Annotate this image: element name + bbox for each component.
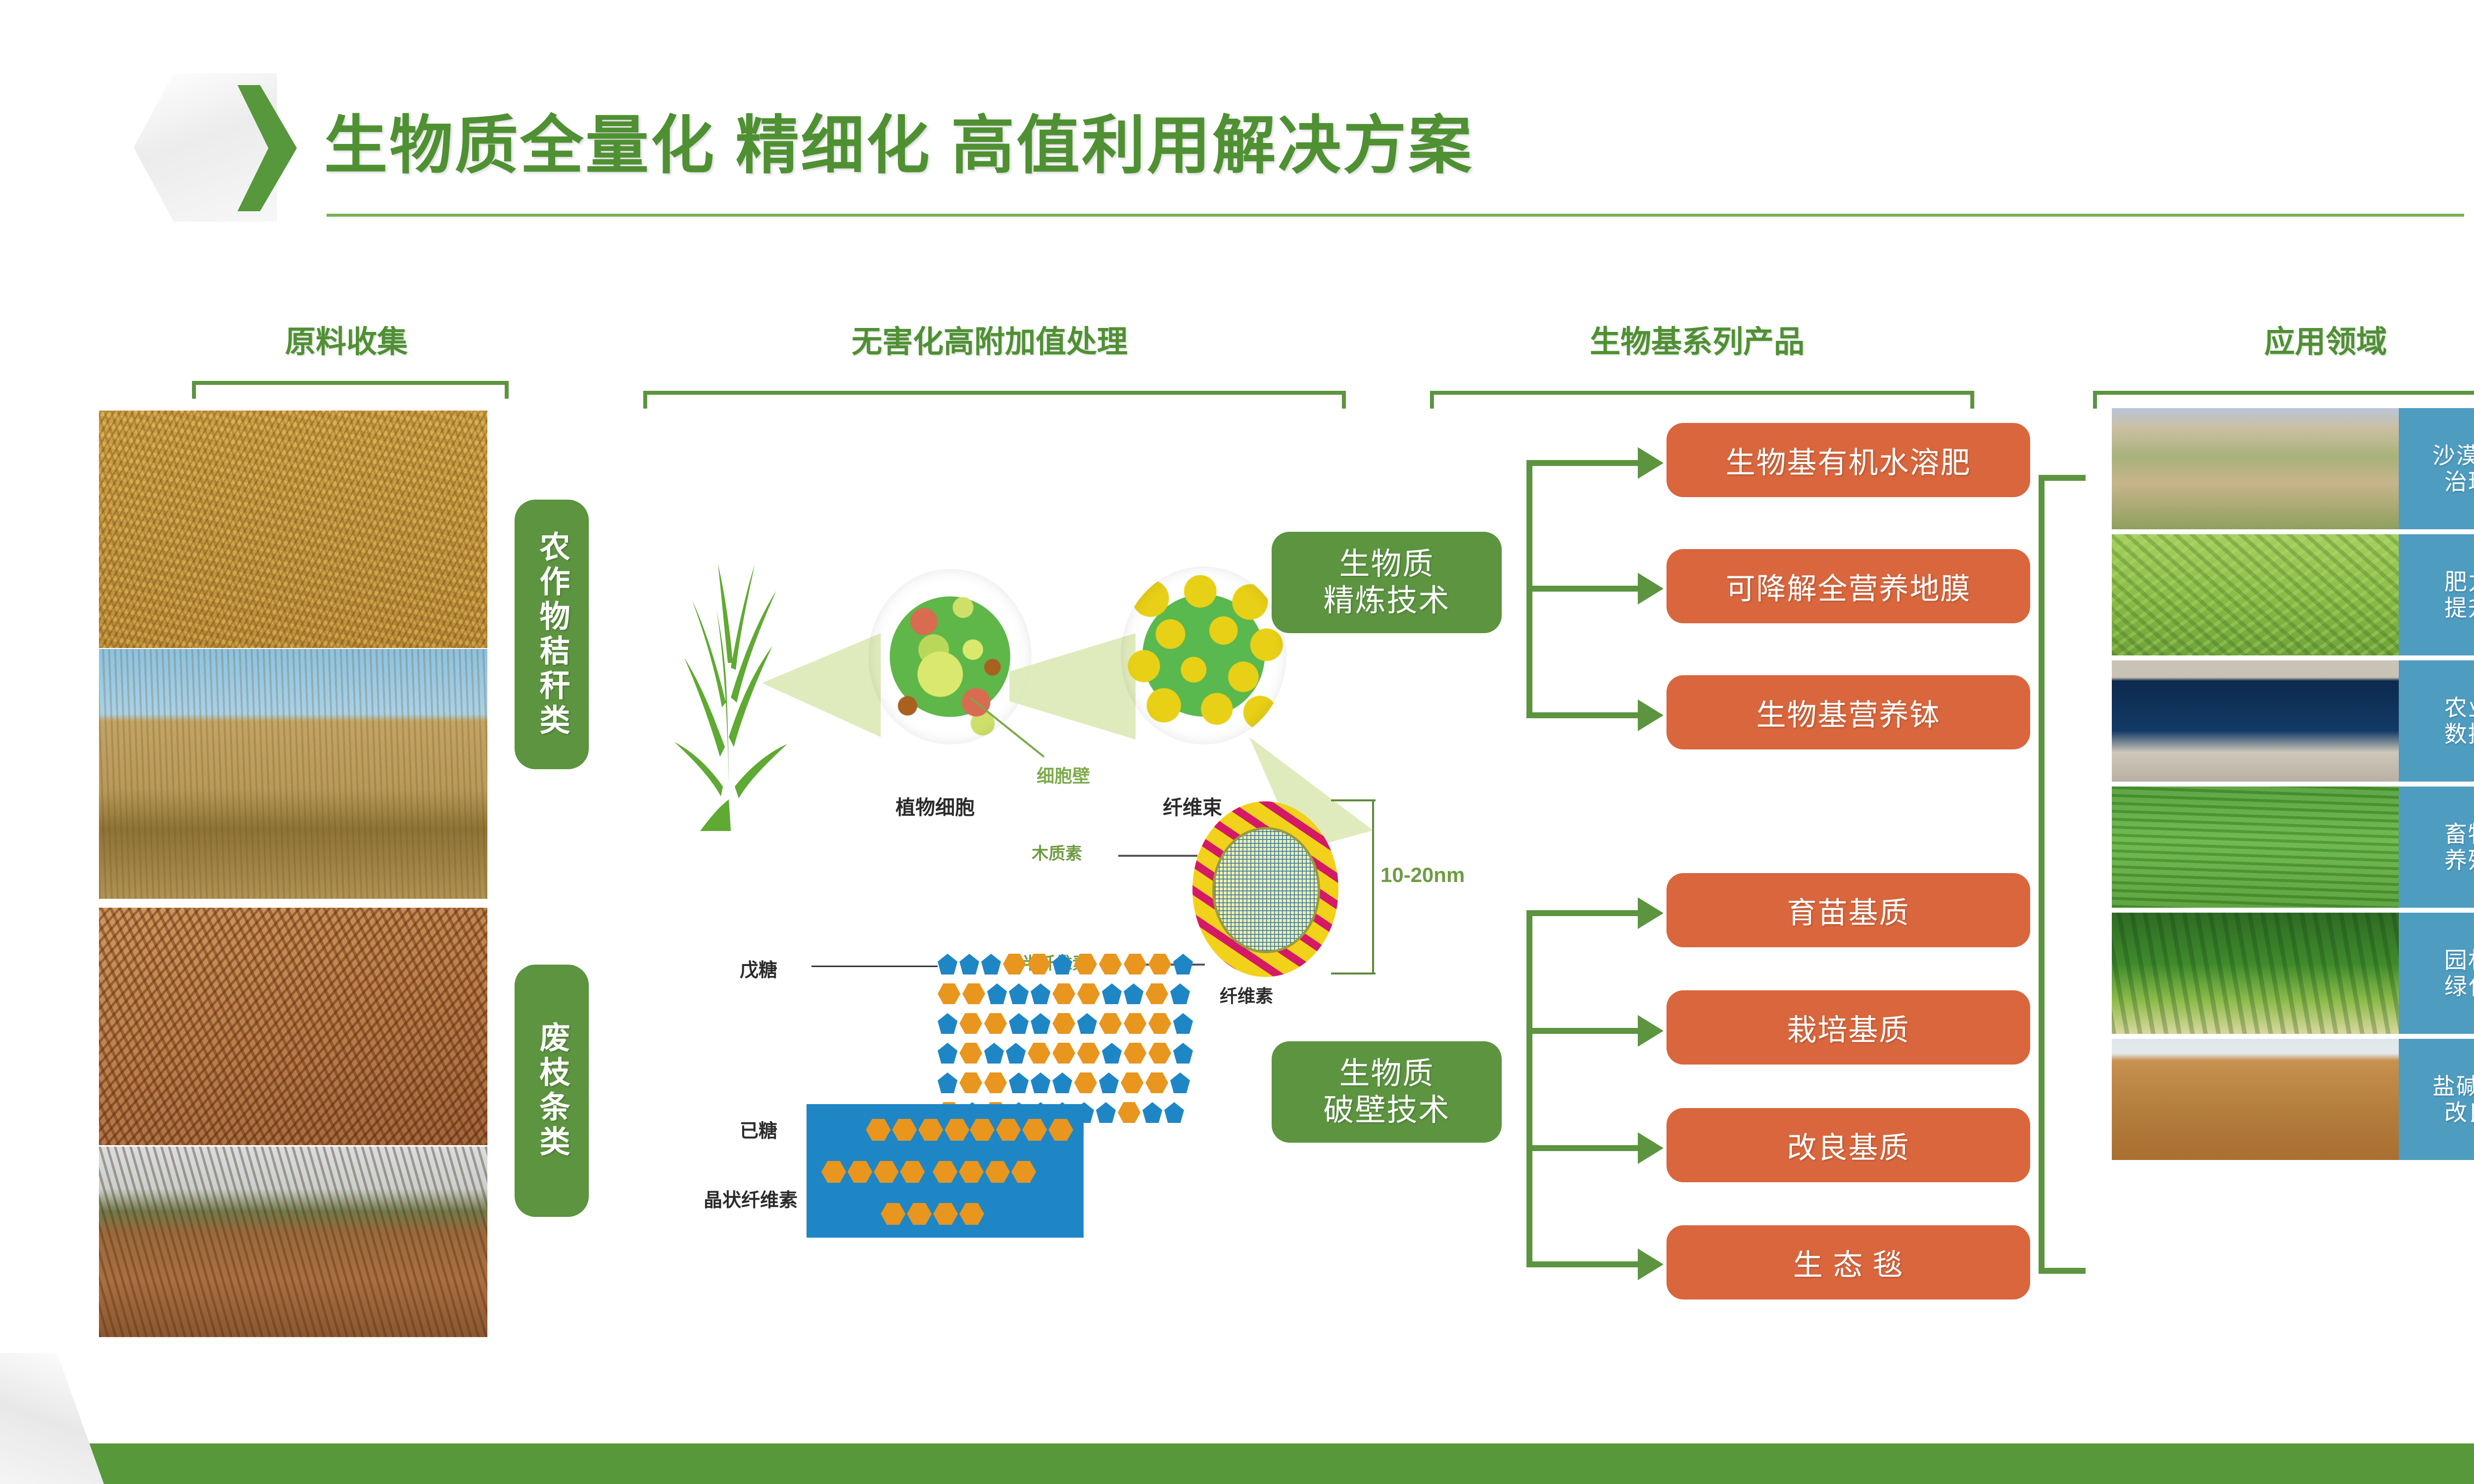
pentose-unit-icon (938, 1043, 957, 1064)
hexose-unit-icon (1074, 1072, 1097, 1093)
material-tag-crop-straw: 农作物秸秆类 (515, 500, 589, 769)
arrow-head-wb-1 (1638, 897, 1664, 929)
app-label-desertification-line1: 沙漠化 (2432, 443, 2474, 469)
hexose-unit-icon (1099, 954, 1122, 974)
slide-canvas: 生物质全量化 精细化 高值利用解决方案 原料收集 无害化高附加值处理 生物基系列… (0, 0, 2474, 1484)
arrow-shaft-refining-3 (1601, 712, 1638, 718)
pentose-unit-icon (1052, 954, 1072, 974)
pentose-unit-icon (1164, 1102, 1184, 1123)
app-label-soil-fertility[interactable]: 肥力 提升 (2399, 534, 2474, 655)
hexose-unit-icon (984, 1013, 1007, 1034)
tech-box-wall-breaking[interactable]: 生物质 破壁技术 (1272, 1041, 1502, 1143)
glucose-unit-icon (874, 1161, 899, 1183)
applications-bracket (2039, 475, 2086, 1274)
title-underline (327, 214, 2464, 217)
pentose-unit-icon (1009, 983, 1029, 1004)
app-image-agri-data (2112, 660, 2399, 782)
app-label-desertification-line2: 治理 (2444, 469, 2474, 495)
hexose-unit-icon (1052, 1013, 1075, 1034)
sugar-chain-row (938, 954, 1193, 974)
sugar-chain-row (938, 983, 1190, 1004)
glucose-unit-icon (945, 1119, 969, 1141)
arrow-head-wb-2 (1638, 1015, 1664, 1047)
hexose-unit-icon (962, 983, 985, 1004)
pentose-leader-line (811, 966, 938, 967)
app-label-livestock[interactable]: 畜牧 养殖 (2399, 787, 2474, 908)
hexose-unit-icon (1145, 1072, 1168, 1093)
pentose-unit-icon (1142, 1102, 1162, 1123)
pentose-unit-icon (1170, 983, 1190, 1004)
glucose-unit-icon (970, 1119, 995, 1141)
glucose-unit-icon (933, 1203, 958, 1225)
label-cellulose: 纤维素 (1220, 982, 1273, 1008)
connector-branch-wb-1 (1526, 910, 1601, 916)
glucose-unit-icon (866, 1119, 891, 1141)
hexose-unit-icon (1077, 1043, 1100, 1064)
hexose-unit-icon (1124, 954, 1146, 974)
hexose-unit-icon (1074, 954, 1097, 974)
arrow-shaft-wb-2 (1601, 1028, 1638, 1034)
label-fibril-dimension: 10-20nm (1380, 863, 1465, 887)
app-image-saline-land (2112, 1039, 2399, 1160)
app-label-livestock-line1: 畜牧 (2444, 821, 2474, 847)
pentose-unit-icon (1173, 1043, 1193, 1064)
hexose-unit-icon (959, 1072, 982, 1093)
pentose-unit-icon (1031, 983, 1050, 1004)
glucose-unit-icon (907, 1203, 932, 1225)
app-image-soil-fertility (2112, 534, 2399, 655)
hexose-unit-icon (938, 983, 960, 1004)
product-box-improvement-substrate[interactable]: 改良基质 (1666, 1108, 2030, 1182)
hexose-unit-icon (1052, 1043, 1075, 1064)
label-fiber-bundle: 纤维束 (1163, 791, 1222, 820)
pentose-unit-icon (987, 983, 1007, 1004)
product-box-water-soluble-fertilizer[interactable]: 生物基有机水溶肥 (1666, 423, 2030, 497)
microfibril-inner-core (1212, 827, 1320, 953)
section-bracket-biobased-products (1430, 391, 1974, 409)
pentose-unit-icon (1124, 983, 1143, 1004)
glucose-unit-icon (933, 1161, 957, 1183)
hexose-unit-icon (1028, 1043, 1050, 1064)
glucose-unit-icon (985, 1161, 1010, 1183)
glucose-unit-icon (918, 1119, 943, 1141)
hexose-unit-icon (1121, 1072, 1143, 1093)
tech-box-refining[interactable]: 生物质 精炼技术 (1272, 532, 1502, 633)
app-label-agri-data[interactable]: 农业 数据 (2399, 660, 2474, 782)
hexose-unit-icon (1148, 954, 1171, 974)
label-cell-wall: 细胞壁 (1037, 762, 1090, 788)
connector-branch-refining-3 (1526, 712, 1601, 718)
pentose-unit-icon (1102, 983, 1122, 1004)
arrow-head-wb-3 (1638, 1132, 1664, 1164)
sugar-chain-row (938, 1072, 1190, 1093)
glucose-unit-icon (1048, 1119, 1073, 1141)
arrow-head-refining-1 (1638, 447, 1664, 479)
sugar-chain-row (938, 1043, 1193, 1064)
pentose-unit-icon (938, 1013, 957, 1034)
hexose-unit-icon (1124, 1013, 1146, 1034)
material-tag-waste-branches: 废枝条类 (515, 965, 589, 1217)
hexose-unit-icon (1148, 1013, 1171, 1034)
section-bracket-raw-collection (192, 381, 509, 399)
pentose-unit-icon (1173, 954, 1193, 974)
app-image-desertification (2112, 408, 2399, 529)
connector-branch-wb-4 (1526, 1261, 1601, 1267)
arrow-shaft-refining-2 (1601, 586, 1638, 592)
photo-pruned-branches (99, 908, 487, 1145)
arrow-head-wb-4 (1638, 1249, 1664, 1280)
app-label-agri-data-line1: 农业 (2444, 695, 2474, 721)
label-plant-cell: 植物细胞 (896, 791, 975, 820)
pentose-unit-icon (1096, 1102, 1116, 1123)
hexose-unit-icon (1148, 1043, 1171, 1064)
app-label-saline-land-line1: 盐碱地 (2432, 1073, 2474, 1100)
glucose-unit-icon (959, 1161, 984, 1183)
label-crystalline-cellulose: 晶状纤维素 (704, 1185, 798, 1212)
pentose-unit-icon (1009, 1072, 1029, 1093)
lignin-leader-line (1118, 851, 1202, 861)
section-header-application-areas: 应用领域 (2088, 317, 2474, 361)
crystal-glucose-chain (821, 1161, 925, 1183)
tech-wallbreaking-line2: 破壁技术 (1323, 1092, 1450, 1128)
app-label-livestock-line2: 养殖 (2444, 847, 2474, 874)
app-label-landscaping[interactable]: 园林 绿化 (2399, 913, 2474, 1034)
dimension-bracket (1331, 796, 1390, 979)
pentose-unit-icon (981, 954, 1001, 974)
app-image-livestock (2112, 787, 2399, 908)
connector-spine-wallbreaking (1526, 910, 1532, 1266)
glucose-unit-icon (1011, 1161, 1036, 1183)
section-header-raw-collection: 原料收集 (188, 317, 505, 361)
pentose-unit-icon (1173, 1013, 1193, 1034)
app-label-landscaping-line1: 园林 (2444, 947, 2474, 974)
glucose-unit-icon (892, 1119, 917, 1141)
product-box-cultivation-substrate[interactable]: 栽培基质 (1666, 990, 2030, 1065)
arrow-shaft-wb-1 (1601, 910, 1638, 916)
photo-corn-straw-field (99, 411, 487, 648)
hexose-unit-icon (1145, 983, 1168, 1004)
arrow-shaft-wb-4 (1601, 1261, 1638, 1267)
arrow-shaft-wb-3 (1601, 1145, 1638, 1151)
pentose-unit-icon (1031, 1072, 1050, 1093)
product-box-ecological-blanket[interactable]: 生 态 毯 (1666, 1225, 2030, 1299)
cell-wall-leader-line (970, 697, 1079, 767)
arrow-shaft-refining-1 (1601, 460, 1638, 466)
section-bracket-harmless-process (643, 391, 1346, 409)
section-header-biobased-products: 生物基系列产品 (1425, 317, 1969, 361)
product-box-seedling-substrate[interactable]: 育苗基质 (1666, 873, 2030, 947)
footer-bar (0, 1443, 2474, 1484)
connector-branch-wb-3 (1526, 1145, 1601, 1151)
pentose-unit-icon (1077, 1013, 1097, 1034)
hexose-unit-icon (1003, 954, 1026, 974)
hexose-unit-icon (1124, 1043, 1146, 1064)
connector-branch-refining-1 (1526, 460, 1601, 466)
tech-refining-line1: 生物质 (1339, 546, 1434, 582)
glucose-unit-icon (900, 1161, 925, 1183)
hexose-unit-icon (1028, 954, 1050, 974)
hexose-unit-icon (1052, 983, 1075, 1004)
hexose-unit-icon (1077, 983, 1100, 1004)
section-bracket-application-areas (2093, 391, 2474, 409)
fiber-bundle-illustration (1121, 566, 1286, 744)
glucose-unit-icon (1022, 1119, 1047, 1141)
section-header-harmless-process: 无害化高附加值处理 (638, 317, 1341, 361)
app-label-soil-fertility-line1: 肥力 (2444, 569, 2474, 595)
crystal-cellulose-illustration (807, 1104, 1084, 1238)
connector-branch-wb-2 (1526, 1028, 1601, 1034)
app-label-soil-fertility-line2: 提升 (2444, 595, 2474, 621)
crystal-glucose-chain (866, 1119, 969, 1141)
hexose-unit-icon (959, 1013, 982, 1034)
pentose-unit-icon (1006, 1043, 1026, 1064)
hexose-unit-icon (1099, 1013, 1122, 1034)
glucose-unit-icon (959, 1203, 984, 1225)
crystal-glucose-chain (933, 1161, 1036, 1183)
glucose-unit-icon (821, 1161, 846, 1183)
hexose-unit-icon (1118, 1102, 1141, 1123)
crystal-glucose-chain (881, 1203, 984, 1225)
app-label-saline-land-line2: 改良 (2444, 1100, 2474, 1126)
pentose-unit-icon (938, 954, 957, 974)
app-label-landscaping-line2: 绿化 (2444, 974, 2474, 1000)
pentose-unit-icon (1031, 1013, 1050, 1034)
glucose-unit-icon (848, 1161, 872, 1183)
app-image-landscaping (2112, 913, 2399, 1034)
arrow-head-refining-3 (1638, 699, 1664, 731)
photo-straw-bale-field (99, 649, 487, 899)
pentose-unit-icon (1099, 1072, 1119, 1093)
label-lignin: 木质素 (1032, 840, 1082, 864)
pentose-unit-icon (1009, 1013, 1029, 1034)
glucose-unit-icon (881, 1203, 905, 1225)
pentose-unit-icon (938, 1072, 957, 1093)
product-box-degradable-mulch-film[interactable]: 可降解全营养地膜 (1666, 549, 2030, 623)
app-label-saline-land[interactable]: 盐碱地 改良 (2399, 1039, 2474, 1160)
glucose-unit-icon (996, 1119, 1021, 1141)
pentose-unit-icon (984, 1043, 1004, 1064)
connector-branch-refining-2 (1526, 586, 1601, 592)
page-title: 生物质全量化 精细化 高值利用解决方案 (324, 94, 1474, 185)
sugar-chain-row (938, 1013, 1193, 1034)
footer-corner-decoration (0, 1353, 104, 1484)
label-pentose: 戊糖 (740, 955, 777, 982)
pentose-unit-icon (959, 954, 979, 974)
product-box-nutrition-pot[interactable]: 生物基营养钵 (1666, 675, 2030, 749)
tech-wallbreaking-line1: 生物质 (1339, 1056, 1434, 1092)
app-label-desertification[interactable]: 沙漠化 治理 (2399, 408, 2474, 529)
pentose-unit-icon (1170, 1072, 1190, 1093)
tech-refining-line2: 精炼技术 (1323, 583, 1450, 619)
pentose-unit-icon (1052, 1072, 1072, 1093)
arrow-head-refining-2 (1638, 573, 1664, 604)
crystal-glucose-chain (970, 1119, 1073, 1141)
photo-orchard-pruning (99, 1147, 487, 1337)
hexose-unit-icon (959, 1043, 982, 1064)
app-label-agri-data-line2: 数据 (2444, 721, 2474, 747)
pentose-unit-icon (1102, 1043, 1122, 1064)
label-hexose: 已糖 (740, 1115, 777, 1143)
hexose-unit-icon (984, 1072, 1007, 1093)
